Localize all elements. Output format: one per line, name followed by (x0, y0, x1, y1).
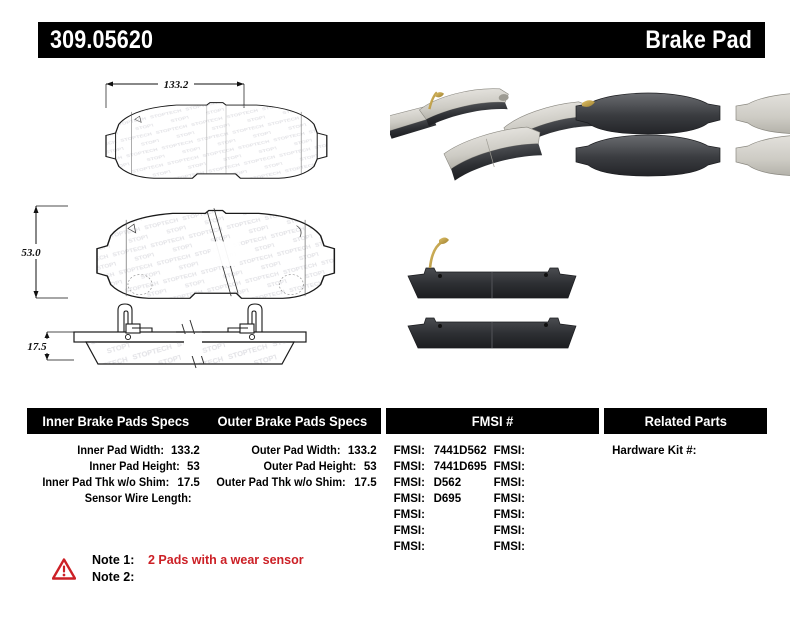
thickness-dimension-label: 17.5 (27, 341, 47, 353)
related-part-row: Hardware Kit #: (604, 443, 767, 459)
fmsi-label: FMSI: (494, 491, 530, 507)
fmsi-row: FMSI: (494, 459, 594, 475)
fmsi-label: FMSI: (494, 539, 530, 555)
header-bar: 309.05620 Brake Pad (38, 22, 765, 58)
header-fmsi: FMSI # (386, 408, 600, 434)
header-outer-specs: Outer Brake Pads Specs (204, 408, 381, 434)
fmsi-value: 7441D562 (434, 443, 487, 459)
spec-row: Outer Pad Height: 53 (204, 459, 381, 475)
spec-value: 17.5 (354, 475, 376, 491)
note-value: 2 Pads with a wear sensor (148, 552, 304, 569)
fmsi-value: 7441D695 (434, 459, 487, 475)
fmsi-label: FMSI: (394, 491, 430, 507)
fmsi-row: FMSI: (494, 523, 594, 539)
spec-label: Inner Pad Width: (77, 443, 164, 459)
pad-face-view (97, 208, 334, 298)
spec-row: Outer Pad Thk w/o Shim: 17.5 (204, 475, 381, 491)
fmsi-label: FMSI: (494, 475, 530, 491)
spec-value: 53 (187, 459, 200, 475)
spec-value: 133.2 (171, 443, 200, 459)
notes-section: Note 1: 2 Pads with a wear sensor Note 2… (52, 552, 304, 586)
fmsi-row: FMSI: (494, 491, 594, 507)
fmsi-row: FMSI: (494, 507, 594, 523)
inner-specs-column: Inner Pad Width: 133.2 Inner Pad Height:… (27, 443, 204, 555)
photo-flat-group (576, 93, 790, 176)
header-inner-specs-label: Inner Brake Pads Specs (42, 413, 189, 429)
spec-row: Inner Pad Thk w/o Shim: 17.5 (27, 475, 204, 491)
fmsi-row: FMSI: (494, 539, 594, 555)
fmsi-sub-column-left: FMSI: 7441D562 FMSI: 7441D695 FMSI: D562… (394, 443, 494, 555)
spec-table-header-row: Inner Brake Pads Specs Outer Brake Pads … (27, 408, 767, 434)
fmsi-row: FMSI: (394, 507, 494, 523)
fmsi-sub-column-right: FMSI: FMSI: FMSI: FMSI: (494, 443, 594, 555)
photo-perspective-group (390, 86, 595, 181)
product-photos-panel (390, 80, 790, 380)
technical-drawings-panel: STOPTECH STOPTECH 133.2 (0, 62, 400, 382)
fmsi-label: FMSI: (394, 539, 430, 555)
related-parts-column: Hardware Kit #: (604, 443, 767, 555)
fmsi-label: FMSI: (494, 459, 530, 475)
spec-row: Outer Pad Width: 133.2 (204, 443, 381, 459)
pad-edge-view (74, 304, 306, 368)
fmsi-label: FMSI: (494, 507, 530, 523)
fmsi-label: FMSI: (394, 523, 430, 539)
header-related-parts-label: Related Parts (644, 413, 726, 429)
height-dimension-label: 53.0 (21, 247, 41, 259)
spec-table-body-row: Inner Pad Width: 133.2 Inner Pad Height:… (27, 434, 767, 555)
note-label: Note 1: (92, 552, 144, 569)
width-dimension-label: 133.2 (164, 79, 189, 91)
product-type: Brake Pad (645, 26, 752, 55)
fmsi-row: FMSI: (494, 443, 594, 459)
fmsi-label: FMSI: (494, 523, 530, 539)
header-inner-specs: Inner Brake Pads Specs (27, 408, 204, 434)
fmsi-row: FMSI: (394, 523, 494, 539)
fmsi-row: FMSI: 7441D562 (394, 443, 494, 459)
fmsi-value: D695 (434, 491, 462, 507)
note-row: Note 2: (92, 569, 304, 586)
fmsi-value: D562 (434, 475, 462, 491)
thickness-dimension-line: 17.5 (22, 332, 74, 360)
fmsi-row: FMSI: 7441D695 (394, 459, 494, 475)
fmsi-row: FMSI: D695 (394, 491, 494, 507)
header-fmsi-label: FMSI # (472, 413, 514, 429)
brake-pad-drawings-svg: STOPTECH STOPTECH 133.2 (0, 62, 400, 382)
pad-plan-view (106, 103, 327, 179)
spec-row: Sensor Wire Length: (27, 491, 204, 507)
height-dimension-line: 53.0 (14, 206, 68, 298)
fmsi-row: FMSI: (494, 475, 594, 491)
note-label: Note 2: (92, 569, 144, 586)
spec-label: Outer Pad Width: (251, 443, 340, 459)
warning-triangle-icon (52, 558, 76, 580)
fmsi-row: FMSI: D562 (394, 475, 494, 491)
photo-edge-pair (408, 238, 576, 349)
outer-specs-column: Outer Pad Width: 133.2 Outer Pad Height:… (204, 443, 381, 555)
spec-row: Inner Pad Height: 53 (27, 459, 204, 475)
fmsi-label: FMSI: (394, 475, 430, 491)
header-related-parts: Related Parts (604, 408, 767, 434)
spec-value: 17.5 (177, 475, 199, 491)
header-outer-specs-label: Outer Brake Pads Specs (217, 413, 367, 429)
spec-label: Inner Pad Thk w/o Shim: (42, 475, 169, 491)
spec-label: Sensor Wire Length: (85, 491, 192, 507)
fmsi-label: FMSI: (394, 459, 430, 475)
part-number: 309.05620 (50, 26, 153, 55)
product-photos-svg (390, 80, 790, 380)
spec-value: 53 (364, 459, 377, 475)
spec-label: Inner Pad Height: (89, 459, 179, 475)
spec-label: Outer Pad Height: (264, 459, 357, 475)
spec-table: Inner Brake Pads Specs Outer Brake Pads … (27, 408, 767, 555)
spec-row: Inner Pad Width: 133.2 (27, 443, 204, 459)
fmsi-label: FMSI: (394, 443, 430, 459)
fmsi-label: FMSI: (394, 507, 430, 523)
fmsi-label: FMSI: (494, 443, 530, 459)
spec-value: 133.2 (348, 443, 377, 459)
fmsi-column: FMSI: 7441D562 FMSI: 7441D695 FMSI: D562… (386, 443, 600, 555)
note-row: Note 1: 2 Pads with a wear sensor (92, 552, 304, 569)
spec-label: Outer Pad Thk w/o Shim: (217, 475, 346, 491)
fmsi-row: FMSI: (394, 539, 494, 555)
